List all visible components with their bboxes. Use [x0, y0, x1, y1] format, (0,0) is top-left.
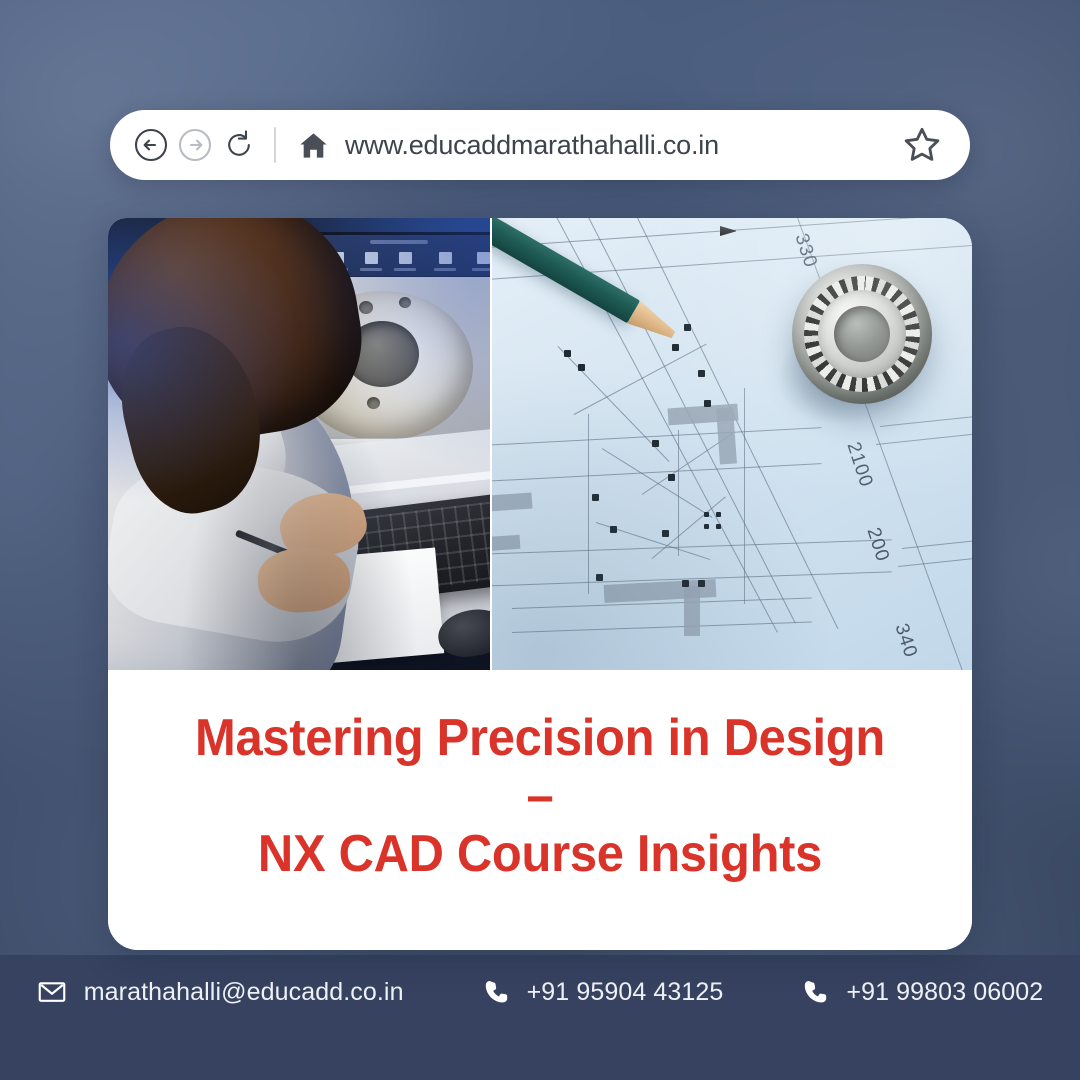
arrow-right-circle-icon — [178, 128, 212, 162]
page-title: Mastering Precision in Design – NX CAD C… — [177, 709, 903, 884]
ball-bearing — [792, 264, 932, 404]
content-card: 330 2100 200 340 Mastering Precision in … — [108, 218, 972, 950]
arrow-left-circle-icon — [134, 128, 168, 162]
home-icon — [298, 130, 329, 161]
toolbar-divider — [274, 127, 276, 163]
phone-icon-2 — [801, 978, 829, 1006]
contact-phone-1[interactable]: +91 95904 43125 — [482, 978, 724, 1007]
bookmark-star-button[interactable] — [902, 125, 942, 165]
email-icon — [37, 977, 67, 1007]
url-text[interactable]: www.educaddmarathahalli.co.in — [345, 130, 719, 161]
phone-text-1: +91 95904 43125 — [527, 978, 724, 1007]
browser-address-bar: www.educaddmarathahalli.co.in — [110, 110, 970, 180]
browser-nav-group — [134, 128, 256, 162]
contact-phone-2[interactable]: +91 99803 06002 — [801, 978, 1043, 1007]
contact-list: marathahalli@educadd.co.in +91 95904 431… — [37, 977, 1044, 1007]
blueprint-bearing-photo: 330 2100 200 340 — [492, 218, 972, 670]
contact-email[interactable]: marathahalli@educadd.co.in — [37, 977, 404, 1007]
title-block: Mastering Precision in Design – NX CAD C… — [108, 670, 972, 950]
phone-icon-1 — [482, 978, 510, 1006]
reload-icon — [222, 127, 256, 163]
contact-footer: marathahalli@educadd.co.in +91 95904 431… — [0, 955, 1080, 1080]
title-line-2: NX CAD Course Insights — [258, 825, 822, 883]
star-outline-icon — [902, 125, 942, 165]
email-text: marathahalli@educadd.co.in — [84, 978, 404, 1007]
forward-button[interactable] — [178, 128, 212, 162]
back-button[interactable] — [134, 128, 168, 162]
phone-text-2: +91 99803 06002 — [846, 978, 1043, 1007]
title-line-1: Mastering Precision in Design – — [195, 709, 885, 825]
reload-button[interactable] — [222, 128, 256, 162]
cad-designer-photo — [108, 218, 490, 670]
poster-canvas: www.educaddmarathahalli.co.in — [0, 0, 1080, 1080]
photo-row: 330 2100 200 340 — [108, 218, 972, 670]
